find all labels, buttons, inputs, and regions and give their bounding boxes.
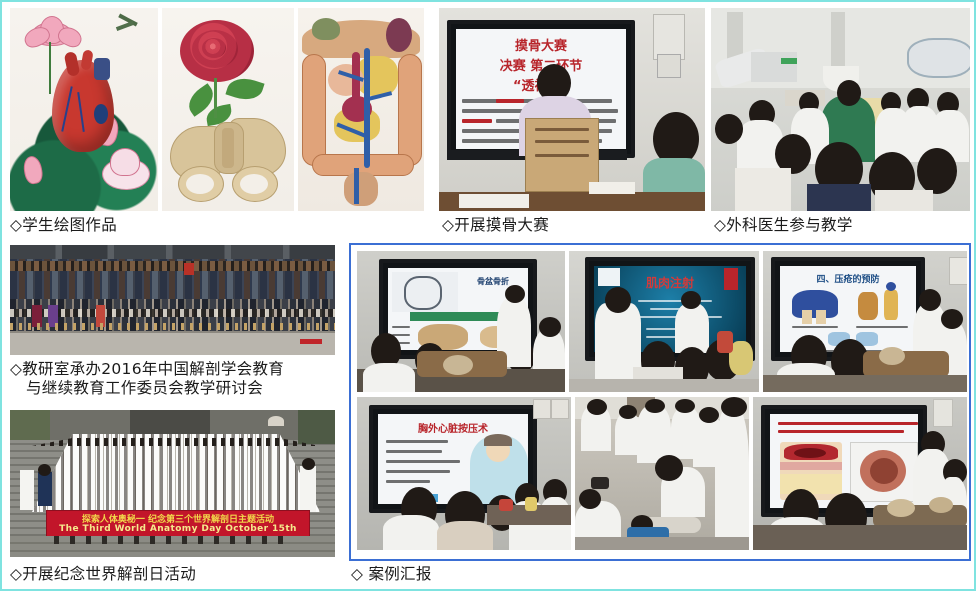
anatomy-day-banner: 探索人体奥秘一 纪念第三个世界解剖日主题活动 The Third World A… — [46, 510, 310, 538]
case-report-panel: 骨盆骨折 — [349, 243, 971, 561]
photo-case-pressure-sore-prevention: 四、压疮的预防 — [763, 251, 967, 392]
photo-case-pelvic-fracture: 骨盆骨折 — [357, 251, 565, 392]
caption-bone-contest: ◇开展摸骨大赛 — [442, 216, 549, 235]
caption-student-drawings: ◇学生绘图作品 — [10, 216, 117, 235]
photo-case-wound-slide — [753, 397, 967, 550]
photo-case-intramuscular-injection: 肌肉注射 — [569, 251, 759, 392]
caption-symposium-line2: 与继续教育工作委员会教学研讨会 — [26, 379, 263, 398]
photo-surgeon-teaching — [711, 8, 970, 211]
photo-drawing-rose-pelvis — [162, 8, 294, 211]
photo-anatomy-day-group: 探索人体奥秘一 纪念第三个世界解剖日主题活动 The Third World A… — [10, 410, 335, 557]
caption-surgeon-teaching: ◇外科医生参与教学 — [714, 216, 853, 235]
photo-bone-contest: 摸骨大赛 决赛 第二环节 “透视眼” — [439, 8, 705, 211]
photo-case-cardiac-compression: 胸外心脏按压术 — [357, 397, 571, 550]
photo-case-cpr-demo — [575, 397, 749, 550]
photo-drawing-viscera — [298, 8, 424, 211]
photo-drawing-heart-lotus — [10, 8, 158, 211]
caption-case-report: ◇ 案例汇报 — [351, 565, 432, 584]
banner-text-cn: 探索人体奥秘一 纪念第三个世界解剖日主题活动 — [47, 512, 309, 525]
photo-symposium-group — [10, 245, 335, 355]
caption-anatomy-day: ◇开展纪念世界解剖日活动 — [10, 565, 196, 584]
banner-text-en: The Third World Anatomy Day October 15th — [47, 524, 309, 534]
caption-symposium-line1: ◇教研室承办2016年中国解剖学会教育 — [10, 360, 284, 379]
poster-page: ◇学生绘图作品 摸骨大赛 决赛 第二环节 “透视眼” — [0, 0, 976, 591]
